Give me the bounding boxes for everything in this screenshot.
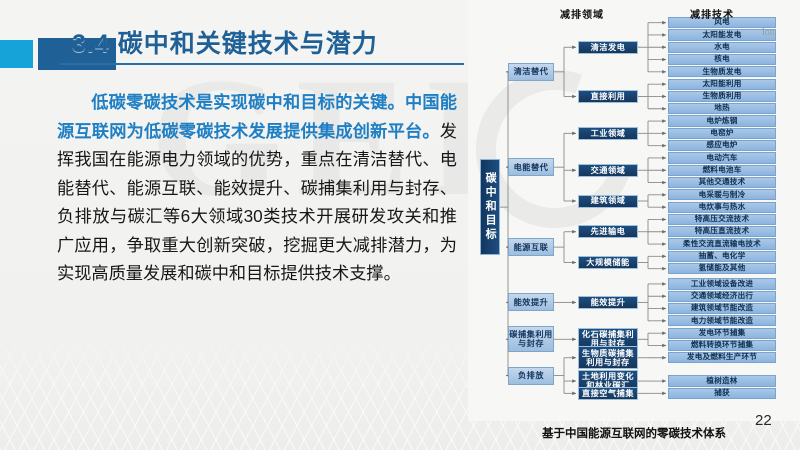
- slide-canvas: GEIDCO 3.4 碳中和关键技术与潜力 低碳零碳技术是实现碳中和目标的关键。…: [0, 0, 800, 450]
- tech-node: 植树造林: [668, 375, 776, 386]
- domain-node: 大规模储能: [578, 256, 638, 269]
- category-node: 电能替代: [508, 158, 554, 176]
- category-node: 能效提升: [508, 293, 554, 311]
- tech-node: 水电: [668, 42, 776, 53]
- tech-node: 生物质利用: [668, 91, 776, 102]
- tech-node: 太阳能利用: [668, 79, 776, 90]
- tech-node: 特高压直流技术: [668, 226, 776, 237]
- page-title: 3.4 碳中和关键技术与潜力: [72, 24, 378, 60]
- category-node: 碳捕集利用与封存: [508, 326, 554, 352]
- tech-node: 建筑领域节能改造: [668, 303, 776, 314]
- tech-node: 太阳能发电: [668, 29, 776, 40]
- tech-node: 电力领域节能改造: [668, 315, 776, 326]
- tech-node: 发电环节捕集: [668, 328, 776, 339]
- header-divider: [60, 63, 464, 65]
- diagram-panel: 风电太阳能发电水电核电生物质发电太阳能利用生物质利用地热电炉炼钢电窑炉感应电炉电…: [468, 0, 800, 421]
- page-number: 22: [755, 412, 772, 429]
- domain-node: 清洁发电: [578, 41, 638, 54]
- tech-node: 燃料电池车: [668, 165, 776, 176]
- body-paragraph: 低碳零碳技术是实现碳中和目标的关键。中国能源互联网为低碳零碳技术发展提供集成创新…: [57, 88, 457, 288]
- category-node: 负排放: [508, 367, 554, 385]
- domain-node: 生物质碳捕集利用与封存: [578, 346, 638, 369]
- tech-node: 捕获: [668, 388, 776, 399]
- header-accent-square-light: [0, 40, 33, 68]
- tech-node: 特高压交流技术: [668, 214, 776, 225]
- body-rest: 发挥我国在能源电力领域的优势，重点在清洁替代、电能替代、能源互联、能效提升、碳捕…: [57, 121, 457, 284]
- tech-node: 电炊事与热水: [668, 202, 776, 213]
- tech-node: 电炉炼钢: [668, 115, 776, 126]
- tech-node: 氢储能及其他: [668, 263, 776, 274]
- category-node: 清洁替代: [508, 63, 554, 81]
- domain-node: 先进输电: [578, 225, 638, 238]
- tech-node: 发电及燃料生产环节: [668, 352, 776, 363]
- tech-node: 工业领域设备改进: [668, 278, 776, 289]
- column-header-technology: 减排技术: [690, 6, 734, 21]
- domain-node: 能效提升: [578, 296, 638, 309]
- tech-node: 电窑炉: [668, 128, 776, 139]
- domain-node: 建筑领域: [578, 195, 638, 208]
- tech-node: 燃料转换环节捕集: [668, 340, 776, 351]
- domain-node: 直接利用: [578, 90, 638, 103]
- domain-node: 交通领域: [578, 164, 638, 177]
- tech-node: 电动汽车: [668, 152, 776, 163]
- tech-node: 感应电炉: [668, 140, 776, 151]
- tech-node: 柔性交流直流输电技术: [668, 238, 776, 249]
- tech-node: 其他交通技术: [668, 177, 776, 188]
- body-highlight: 低碳零碳技术是实现碳中和目标的关键。中国能源互联网为低碳零碳技术发展提供集成创新…: [57, 92, 457, 141]
- tech-node: 生物质发电: [668, 66, 776, 77]
- tech-node: 抽蓄、电化学: [668, 251, 776, 262]
- tech-node: 地热: [668, 103, 776, 114]
- domain-node: 工业领域: [578, 127, 638, 140]
- column-header-domain: 减排领域: [560, 6, 604, 21]
- root-node: 碳中和目标: [480, 159, 500, 255]
- domain-node: 直接空气捕集: [578, 387, 638, 400]
- tech-node: 交通领域经济出行: [668, 291, 776, 302]
- diagram-caption: 基于中国能源互联网的零碳技术体系: [470, 425, 798, 441]
- tech-node: 核电: [668, 54, 776, 65]
- category-node: 能源互联: [508, 238, 554, 256]
- tech-node: 电采暖与制冷: [668, 189, 776, 200]
